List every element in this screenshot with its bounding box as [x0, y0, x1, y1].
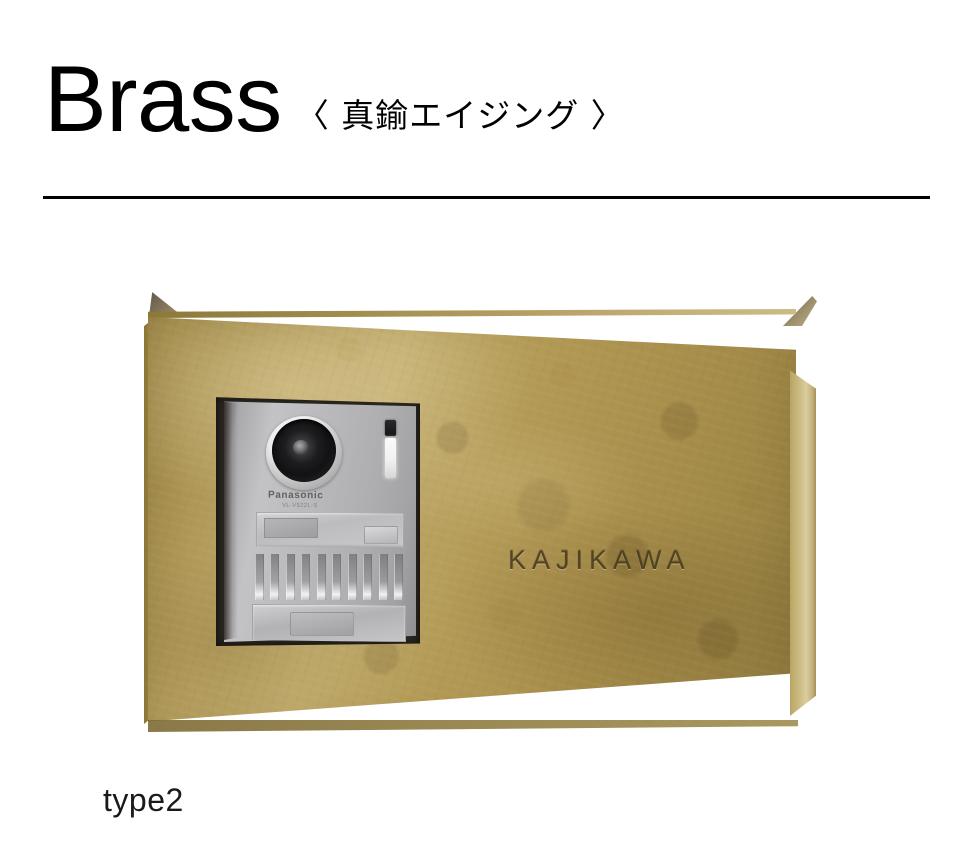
intercom-display-screen [264, 518, 318, 538]
product-photo: Panasonic VL-V522L-S KAJIKAWA [0, 215, 968, 775]
grille-slot [348, 554, 357, 600]
panel-top-edge [148, 309, 796, 318]
panel-right-side-face [790, 322, 816, 726]
intercom-model-label: VL-V522L-S [282, 503, 318, 509]
light-sensor-icon [385, 420, 396, 436]
grille-slot [332, 554, 341, 600]
intercom-card-reader-target [290, 612, 354, 636]
page-title-main: Brass [44, 52, 282, 146]
nameplate-engraving: KAJIKAWA [508, 545, 691, 576]
grille-slot [255, 554, 264, 600]
grille-slot [301, 554, 310, 600]
intercom-call-button[interactable] [364, 526, 398, 544]
brass-panel: Panasonic VL-V522L-S KAJIKAWA [140, 290, 820, 735]
page-title: Brass 〈 真鍮エイジング 〉 [44, 52, 625, 146]
header-divider-rule [43, 196, 930, 199]
panel-bottom-edge [148, 720, 798, 732]
product-type-caption: type2 [103, 782, 184, 819]
page-header: Brass 〈 真鍮エイジング 〉 [0, 0, 968, 210]
grille-slot [317, 554, 326, 600]
intercom-speaker-grille [252, 552, 406, 602]
grille-slot [286, 554, 295, 600]
grille-slot [270, 554, 279, 600]
led-indicator-strip [385, 438, 396, 478]
grille-slot [379, 554, 388, 600]
intercom-brand-label: Panasonic [268, 490, 324, 502]
grille-slot [363, 554, 372, 600]
camera-lens-highlight [293, 440, 309, 455]
grille-slot [394, 554, 403, 600]
intercom-device-edge-shadow [224, 400, 238, 641]
page-title-subtitle-japanese: 〈 真鍮エイジング 〉 [296, 89, 625, 137]
